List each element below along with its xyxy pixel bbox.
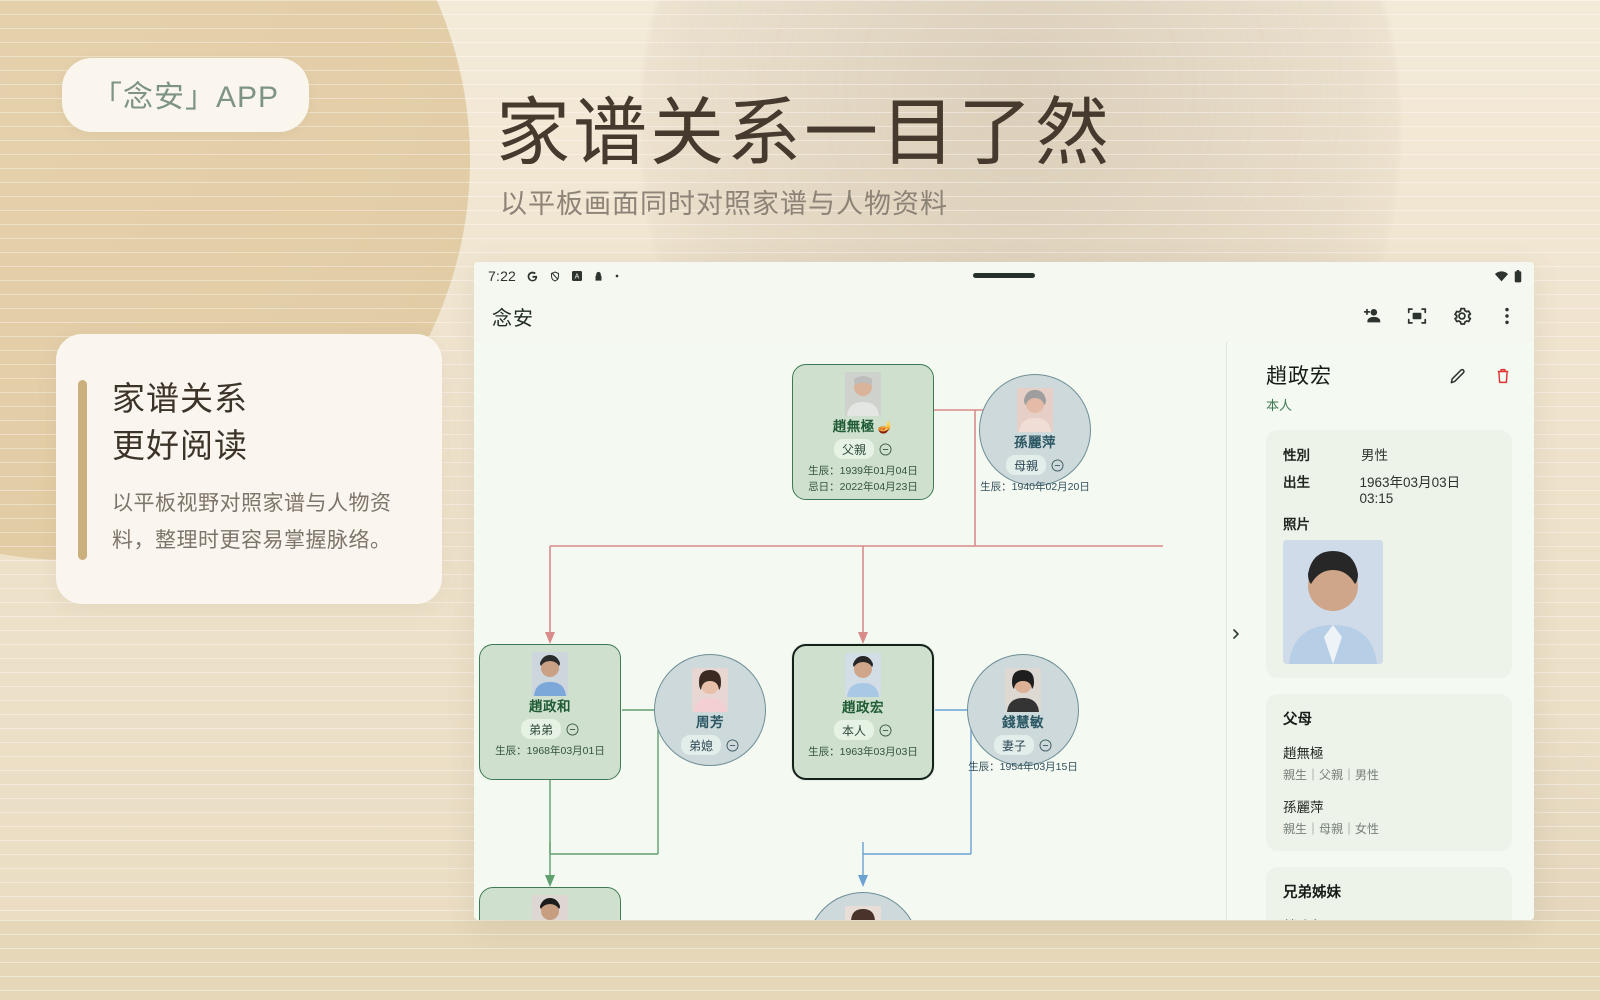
detail-field-birth: 出生 1963年03月03日 03:15 [1283,471,1495,506]
feature-card-title-line2: 更好阅读 [112,423,248,470]
collapse-minus-icon[interactable] [726,739,739,752]
node-card[interactable]: 錢慧敏 妻子 生辰：1954年03月15日 [967,654,1079,766]
node-name: 孫麗萍 [980,435,1090,451]
detail-photo[interactable] [1283,540,1383,664]
node-birth-date: 生辰：1940年02月20日 [980,480,1090,496]
collapse-minus-icon[interactable] [879,443,892,456]
avatar [532,895,568,920]
relation-meta: 親生｜母親｜女性 [1283,820,1495,837]
app-content: 趙無極 🪔 父親 生辰：1939年01月04日 忌日：2022年04月23日 [474,342,1534,920]
google-g-icon [526,270,539,283]
status-bar-right [1495,262,1522,290]
node-card-selected[interactable]: 趙政宏 本人 生辰：1963年03月03日 [792,644,934,780]
tree-node-sister-in-law[interactable]: 周芳 弟媳 [654,654,766,766]
node-name-text: 孫麗萍 [1014,435,1056,451]
feature-accent-bar [78,380,87,560]
node-death-date: 忌日：2022年04月23日 [793,480,933,496]
node-card[interactable]: 趙長風 堂侄子 生辰：2002年03月03日 [479,887,621,920]
node-name-text: 周芳 [696,715,724,731]
status-bar: 7:22 A [474,262,1534,290]
node-card[interactable]: 趙菲菲 長女 生辰：2001年04月02日 [807,892,919,920]
node-dates: 生辰：1968年03月01日 [480,744,620,760]
node-dates: 生辰：1940年02月20日 [980,480,1090,496]
detail-field-value: 1963年03月03日 03:15 [1360,471,1495,506]
node-name-text: 趙無極 [833,419,875,435]
node-relation: 本人 [834,720,874,740]
node-relation: 父親 [834,439,874,459]
app-badge: 「念安」APP [62,58,309,132]
tree-node-mother[interactable]: 孫麗萍 母親 生辰：1940年02月20日 [979,374,1091,486]
shield-icon [549,270,561,283]
node-relation-row: 弟弟 [480,719,620,739]
app-title: 念安 [492,302,534,331]
avatar [532,652,568,696]
status-bar-time: 7:22 [488,268,516,284]
relation-name: 趙政和 [1283,915,1495,920]
detail-basic-card: 性別 男性 出生 1963年03月03日 03:15 照片 [1266,430,1512,678]
node-dates: 生辰：1939年01月04日 忌日：2022年04月23日 [793,464,933,496]
node-card[interactable]: 趙無極 🪔 父親 生辰：1939年01月04日 忌日：2022年04月23日 [792,364,934,500]
detail-photo-label: 照片 [1283,513,1495,533]
page-subtitle: 以平板画面同时对照家谱与人物资料 [500,182,948,221]
dot-icon [614,273,620,279]
detail-field-value: 男性 [1361,444,1388,464]
detail-section-parents: 父母 趙無極 親生｜父親｜男性 孫麗萍 親生｜母親｜女性 [1266,694,1512,851]
avatar [1005,668,1041,712]
node-relation: 母親 [1006,455,1046,475]
node-card[interactable]: 趙政和 弟弟 生辰：1968年03月01日 [479,644,621,780]
wifi-icon [1495,271,1508,282]
detail-section-siblings: 兄弟姊妹 趙政和 弟弟｜男性 [1266,867,1512,920]
node-card[interactable]: 周芳 弟媳 [654,654,766,766]
feature-card-title: 家谱关系 更好阅读 [112,376,248,470]
camera-notch [973,273,1035,278]
chevron-right-icon[interactable] [1231,626,1241,636]
svg-text:A: A [575,274,580,281]
detail-actions [1448,360,1512,391]
feature-card-title-line1: 家谱关系 [112,376,248,423]
collapse-minus-icon[interactable] [1039,739,1052,752]
avatar [1017,388,1053,432]
section-title: 兄弟姊妹 [1283,881,1495,902]
node-name-text: 錢慧敏 [1002,715,1044,731]
feature-card-body: 以平板视野对照家谱与人物资料，整理时更容易掌握脉络。 [112,486,412,560]
relation-name: 孫麗萍 [1283,796,1495,816]
collapse-minus-icon[interactable] [566,723,579,736]
app-bar: 念安 [474,290,1534,342]
detail-field-gender: 性別 男性 [1283,444,1495,464]
tree-node-self[interactable]: 趙政宏 本人 生辰：1963年03月03日 [792,644,934,780]
relation-name: 趙無極 [1283,742,1495,762]
node-name: 錢慧敏 [968,715,1078,731]
node-relation-row: 母親 [980,455,1090,475]
tree-node-nephew[interactable]: 趙長風 堂侄子 生辰：2002年03月03日 [479,887,621,920]
tree-node-daughter[interactable]: 趙菲菲 長女 生辰：2001年04月02日 [807,892,919,920]
feature-card: 家谱关系 更好阅读 以平板视野对照家谱与人物资料，整理时更容易掌握脉络。 [56,334,442,604]
detail-header: 趙政宏 本人 [1266,360,1512,414]
node-name: 趙無極 🪔 [793,419,933,435]
node-name: 趙政和 [480,699,620,715]
tree-node-father[interactable]: 趙無極 🪔 父親 生辰：1939年01月04日 忌日：2022年04月23日 [792,364,934,500]
node-birth-date: 生辰：1963年03月03日 [794,745,932,761]
avatar [845,906,881,920]
node-name-text: 趙政宏 [842,700,884,716]
detail-person-relation: 本人 [1266,395,1332,414]
node-relation-row: 弟媳 [655,735,765,755]
background-bottom-band [0,920,1600,1000]
family-tree-canvas[interactable]: 趙無極 🪔 父親 生辰：1939年01月04日 忌日：2022年04月23日 [474,342,1226,920]
tablet-screenshot: 7:22 A 念安 [474,262,1534,920]
edit-pencil-icon[interactable] [1448,366,1468,391]
settings-gear-icon[interactable] [1451,305,1473,327]
incense-icon: 🪔 [878,420,893,434]
page-title: 家谱关系一目了然 [496,92,1112,173]
node-dates: 生辰：1954年03月15日 [968,760,1078,776]
node-relation: 弟弟 [521,719,561,739]
fit-screen-icon[interactable] [1406,305,1428,327]
node-name-text: 趙政和 [529,699,571,715]
detail-field-key: 出生 [1283,471,1360,506]
node-name: 周芳 [655,715,765,731]
person-detail-panel[interactable]: 趙政宏 本人 性別 男性 出生 [1244,342,1534,920]
node-birth-date: 生辰：1968年03月01日 [480,744,620,760]
relation-item[interactable]: 孫麗萍 親生｜母親｜女性 [1283,796,1495,837]
panel-divider[interactable] [1226,342,1244,920]
node-dates: 生辰：1963年03月03日 [794,745,932,761]
delete-trash-icon[interactable] [1494,366,1512,391]
app-bar-actions [1361,305,1518,327]
node-birth-date: 生辰：1939年01月04日 [793,464,933,480]
relation-item[interactable]: 趙政和 弟弟｜男性 [1283,915,1495,920]
node-relation-row: 本人 [794,720,932,740]
node-relation-row: 父親 [793,439,933,459]
detail-field-key: 性別 [1283,444,1361,464]
more-vertical-icon[interactable] [1496,305,1518,327]
section-title: 父母 [1283,708,1495,729]
detail-identity: 趙政宏 本人 [1266,360,1332,414]
node-card[interactable]: 孫麗萍 母親 生辰：1940年02月20日 [979,374,1091,486]
node-birth-date: 生辰：1954年03月15日 [968,760,1078,776]
node-relation: 弟媳 [681,735,721,755]
tree-node-wife[interactable]: 錢慧敏 妻子 生辰：1954年03月15日 [967,654,1079,766]
add-person-icon[interactable] [1361,305,1383,327]
avatar [845,372,881,416]
a-badge-icon: A [571,270,583,282]
collapse-minus-icon[interactable] [879,724,892,737]
relation-item[interactable]: 趙無極 親生｜父親｜男性 [1283,742,1495,783]
collapse-minus-icon[interactable] [1051,459,1064,472]
node-name: 趙政宏 [794,700,932,716]
tree-node-brother[interactable]: 趙政和 弟弟 生辰：1968年03月01日 [479,644,621,780]
battery-icon [1514,270,1522,283]
node-relation: 妻子 [994,735,1034,755]
avatar [845,653,881,697]
lock-icon [593,270,604,283]
relation-meta: 親生｜父親｜男性 [1283,766,1495,783]
avatar [692,668,728,712]
node-relation-row: 妻子 [968,735,1078,755]
detail-person-name: 趙政宏 [1266,360,1332,390]
